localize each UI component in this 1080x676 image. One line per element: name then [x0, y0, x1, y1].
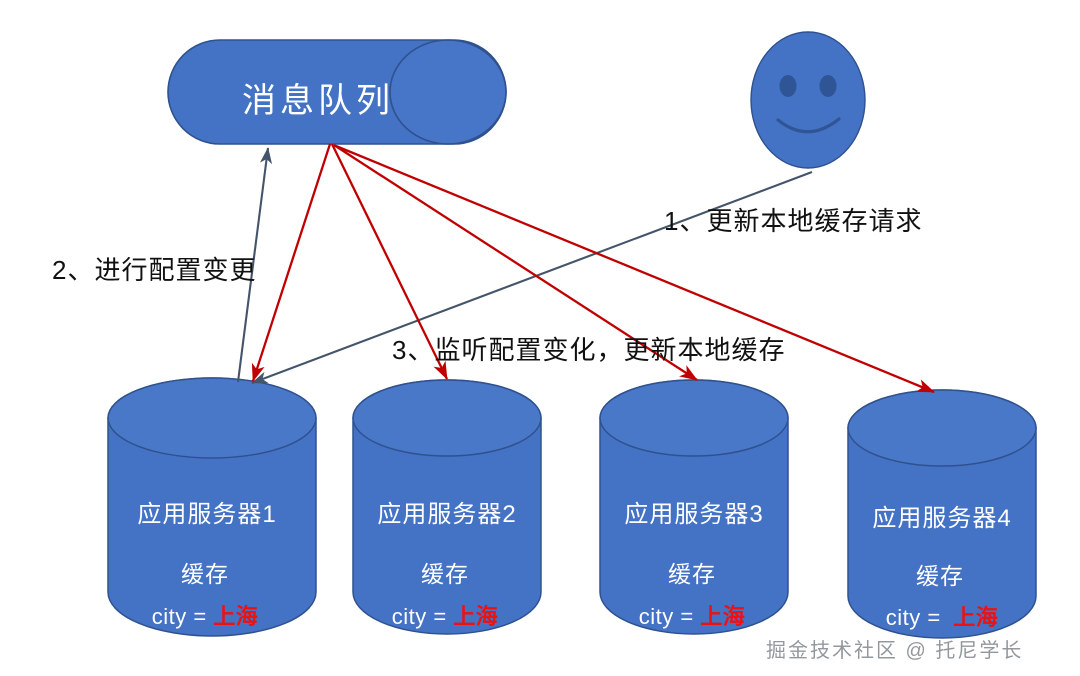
server-4-name: 应用服务器4 [872, 498, 1011, 533]
server-1-kv: city = 上海 [152, 599, 259, 631]
server-3-key: city [639, 604, 674, 629]
queue-label: 消息队列 [242, 73, 394, 122]
server-1-value: 上海 [213, 604, 258, 629]
server-3-kv: city = 上海 [639, 599, 746, 631]
server-2-name: 应用服务器2 [377, 494, 516, 529]
server-3-name: 应用服务器3 [624, 494, 763, 529]
smiley-left-eye-icon [780, 75, 797, 97]
server-3-eq: = [680, 604, 693, 629]
cylinder-top-2 [353, 380, 541, 456]
server-3-value: 上海 [700, 604, 745, 629]
user-smiley-node[interactable] [751, 32, 865, 168]
server-2-eq: = [433, 604, 446, 629]
server-1-cache-label: 缓存 [181, 555, 229, 589]
cylinder-top-4 [848, 390, 1036, 466]
server-4-kv: city = 上海 [886, 600, 999, 632]
server-1-name: 应用服务器1 [137, 494, 276, 529]
server-2-key: city [392, 604, 427, 629]
cylinder-top-3 [600, 380, 788, 456]
step-2-label: 2、进行配置变更 [52, 250, 256, 287]
step-3-label: 3、监听配置变化，更新本地缓存 [392, 330, 785, 367]
server-4-eq: = [927, 605, 940, 630]
server-3-cache-label: 缓存 [668, 555, 716, 589]
server-1-eq: = [193, 604, 206, 629]
cylinder-top-1 [108, 378, 316, 458]
watermark-text: 掘金技术社区 @ 托尼学长 [766, 634, 1023, 663]
server-4-key: city [886, 605, 921, 630]
smiley-head-icon [751, 32, 865, 168]
diagram-canvas: 消息队列 1、更新本地缓存请求 2、进行配置变更 3、监听配置变化，更新本地缓存… [0, 0, 1080, 676]
server-2-cache-label: 缓存 [421, 555, 469, 589]
server-1-key: city [152, 604, 187, 629]
step-1-label: 1、更新本地缓存请求 [664, 201, 922, 238]
queue-circle-segment [390, 40, 506, 144]
smiley-right-eye-icon [820, 75, 837, 97]
server-2-kv: city = 上海 [392, 599, 499, 631]
server-4-value: 上海 [953, 605, 998, 630]
server-2-value: 上海 [453, 604, 498, 629]
server-4-cache-label: 缓存 [916, 557, 964, 591]
